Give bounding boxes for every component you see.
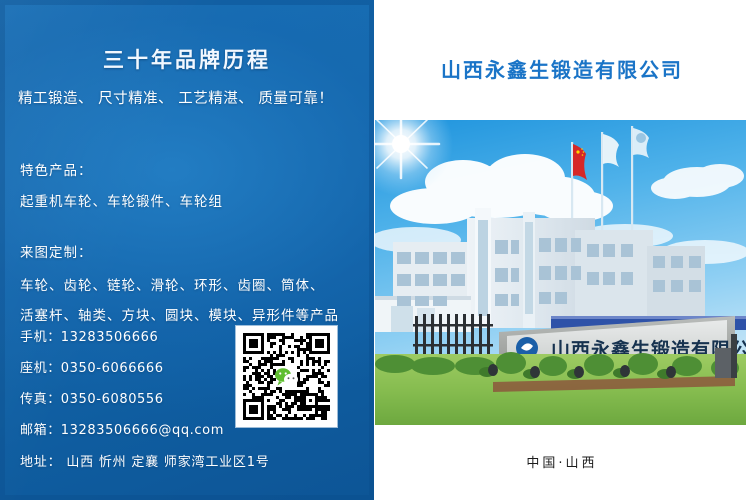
feature-products-heading: 特色产品：	[20, 159, 93, 179]
custom-order-heading: 来图定制：	[20, 241, 93, 261]
slogan-text: 精工锻造、 尺寸精准、 工艺精湛、 质量可靠！	[18, 87, 364, 108]
product-list-line-1: 车轮、齿轮、链轮、滑轮、环形、齿圈、筒体、	[20, 274, 325, 294]
company-profile-card: 三十年品牌历程 精工锻造、 尺寸精准、 工艺精湛、 质量可靠！ 特色产品： 起重…	[0, 0, 750, 500]
contact-telephone: 座机：0350-6066666	[20, 357, 164, 376]
contact-fax: 传真：0350-6080556	[20, 388, 164, 407]
product-list-line-2: 活塞杆、轴类、方块、圆块、模块、异形件等产品	[20, 304, 339, 324]
page-title: 三十年品牌历程	[0, 44, 374, 74]
location-caption: 中国·山西	[374, 452, 750, 471]
contact-address: 地址： 山西 忻州 定襄 师家湾工业区1号	[20, 451, 270, 470]
feature-products-body: 起重机车轮、车轮锻件、车轮组	[20, 190, 223, 210]
contact-email: 邮箱：13283506666@qq.com	[20, 419, 224, 438]
wechat-icon	[274, 367, 300, 387]
contact-mobile: 手机：13283506666	[20, 326, 158, 345]
factory-exterior-photo: 山西永鑫生锻造有限公司 SHANXI YONGXINSHENG FORGING …	[375, 120, 746, 425]
company-name-heading: 山西永鑫生锻造有限公司	[374, 54, 750, 83]
wechat-qr-code[interactable]	[236, 326, 337, 427]
right-photo-panel: 山西永鑫生锻造有限公司	[374, 0, 750, 500]
left-info-panel: 三十年品牌历程 精工锻造、 尺寸精准、 工艺精湛、 质量可靠！ 特色产品： 起重…	[0, 0, 374, 500]
